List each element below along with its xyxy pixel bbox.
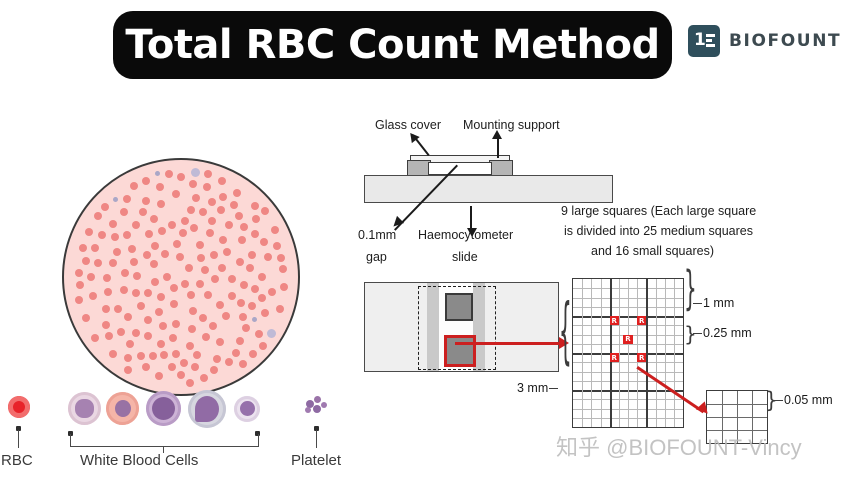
smear-rbc [177,371,185,379]
platelet-granule-4 [321,402,327,408]
smear-rbc [199,314,207,322]
brand-mark-digit: 1 [694,32,706,49]
smear-rbc [218,264,226,272]
rbc-counting-square-5[interactable]: R [637,353,646,362]
smear-rbc [180,359,188,367]
rbc-counting-square-3[interactable]: R [623,335,632,344]
smear-rbc [200,374,208,382]
smear-rbc [128,245,136,253]
smear-rbc [251,230,259,238]
smear-rbc [259,342,267,350]
smear-rbc [204,291,212,299]
grid-line-vertical [591,279,592,427]
grid-line-vertical [628,279,629,427]
smear-rbc [121,269,129,277]
smear-rbc [157,293,165,301]
legend-label-rbc: RBC [1,452,33,469]
blood-smear-illustration [62,158,300,396]
dim-dash-3mm [549,388,558,389]
smear-rbc [139,208,147,216]
smear-rbc [260,238,268,246]
smear-rbc [210,366,218,374]
smear-rbc [150,260,158,268]
smear-rbc [252,215,260,223]
smear-rbc [232,349,240,357]
smear-rbc [144,332,152,340]
smear-rbc [191,363,199,371]
rbc-counting-square-4[interactable]: R [610,353,619,362]
dim-label-3mm: 3 mm [517,381,548,395]
smear-rbc [114,305,122,313]
smear-rbc [155,372,163,380]
smear-rbc [89,292,97,300]
smear-rbc [109,220,117,228]
smear-rbc [94,212,102,220]
counting-chamber-gap [428,162,492,175]
smear-rbc [204,170,212,178]
grid-line-vertical [674,279,675,427]
haemocytometer-slide-side-view [364,175,613,203]
dim-dash-025mm [693,333,702,334]
smear-rbc [219,193,227,201]
rbc-counting-square-2[interactable]: R [637,316,646,325]
smear-rbc [75,296,83,304]
smear-rbc [233,189,241,197]
brand-name: BIOFOUNT [729,31,841,51]
page-title-pill: Total RBC Count Method [113,11,672,79]
smear-rbc [123,195,131,203]
smear-rbc [273,242,281,250]
smear-rbc [76,281,84,289]
smear-rbc [113,248,121,256]
smear-rbc [156,183,164,191]
smear-rbc [213,355,221,363]
smear-rbc [142,363,150,371]
smear-rbc [149,352,157,360]
smear-rbc [251,285,259,293]
smear-rbc [130,258,138,266]
smear-rbc [170,300,178,308]
smear-rbc [120,286,128,294]
platelet-tick-line [316,430,317,448]
smear-rbc [223,248,231,256]
smear-rbc [237,299,245,307]
smear-rbc [120,208,128,216]
smear-rbc [206,229,214,237]
smear-rbc [132,329,140,337]
smear-rbc [105,332,113,340]
rbc-tick-line [18,430,19,448]
smear-rbc [132,289,140,297]
wbc-bracket [70,434,259,447]
smear-rbc [208,198,216,206]
smear-rbc [144,316,152,324]
smear-rbc [104,288,112,296]
platelet-granule-2 [314,396,321,403]
dim-label-025mm: 0.25 mm [703,326,752,340]
smear-rbc [168,221,176,229]
platelet-granule-3 [313,405,321,413]
smear-rbc [102,321,110,329]
smear-rbc [238,236,246,244]
smear-rbc [143,251,151,259]
smear-rbc [137,302,145,310]
label-mounting-support: Mounting support [463,118,560,133]
screenshot-root: Total RBC Count Method 1 BIOFOUNT RBC [0,0,851,479]
smear-rbc [172,190,180,198]
smear-rbc [197,254,205,262]
watermark: 知乎 @BIOFOUNT-Vincy [556,430,802,462]
smear-rbc [165,170,173,178]
page-header: Total RBC Count Method 1 BIOFOUNT [0,0,851,92]
smear-platelet [155,171,160,176]
biofount-mark-icon: 1 [688,25,720,57]
smear-rbc [236,337,244,345]
haemocytometer-slide-top-view [364,282,559,372]
smear-rbc [280,283,288,291]
monocyte-nucleus [195,396,219,422]
smear-rbc [161,250,169,258]
smear-rbc [228,275,236,283]
note-line-3: and 16 small squares) [591,244,714,259]
label-slide-line2: slide [452,250,478,265]
brand-mark-bar-3 [706,44,715,47]
cell-legend: RBC White Blood Cells Platelet [0,386,355,479]
dim-dash-005mm [774,400,783,401]
smear-rbc [137,352,145,360]
smear-rbc [117,328,125,336]
smear-rbc [190,224,198,232]
grid-line-vertical [619,279,620,427]
smear-rbc [155,308,163,316]
smear-rbc [199,208,207,216]
smear-rbc [209,322,217,330]
smear-rbc [217,206,225,214]
smear-rbc [201,266,209,274]
smear-rbc [179,229,187,237]
smear-rbc [242,324,250,332]
smear-rbc [222,312,230,320]
counting-chamber-lower-highlighted[interactable] [444,335,476,367]
dim-label-1mm: 1 mm [703,296,734,310]
smear-rbc [181,280,189,288]
rbc-counting-square-1[interactable]: R [610,316,619,325]
smear-rbc [85,228,93,236]
smear-rbc [216,338,224,346]
smear-rbc [82,257,90,265]
brace-025mm: } [684,322,697,346]
smear-rbc [225,358,233,366]
smear-rbc [210,251,218,259]
label-gap-line1: 0.1mm [358,228,396,243]
smear-rbc [246,264,254,272]
smear-rbc [173,240,181,248]
grid-line-vertical [601,279,602,427]
smear-rbc [255,330,263,338]
smear-rbc [169,334,177,342]
smear-rbc [151,278,159,286]
smear-rbc [196,241,204,249]
smear-wbc [267,329,276,338]
smear-rbc [91,334,99,342]
smear-rbc [177,173,185,181]
legend-label-platelet: Platelet [291,452,341,469]
page-title: Total RBC Count Method [125,22,659,68]
smear-rbc [188,325,196,333]
platelet-granule-5 [305,407,311,413]
eosinophil-nucleus [115,400,131,417]
smear-rbc [94,259,102,267]
smear-rbc [142,177,150,185]
counting-chamber-upper [445,293,473,321]
smear-rbc [196,280,204,288]
smear-rbc [203,183,211,191]
smear-rbc [157,200,165,208]
smear-rbc [279,265,287,273]
smear-rbc [75,269,83,277]
smear-rbc [219,236,227,244]
legend-rbc-icon [8,396,30,418]
smear-rbc [124,366,132,374]
smear-rbc [251,202,259,210]
smear-wbc [191,168,200,177]
smear-rbc [189,180,197,188]
smear-rbc [211,275,219,283]
smear-rbc [248,251,256,259]
smear-platelet [252,317,257,322]
smear-rbc [91,244,99,252]
smear-rbc [186,342,194,350]
smear-rbc [101,203,109,211]
lymphocyte-nucleus [240,401,255,416]
smear-rbc [258,294,266,302]
smear-rbc [225,221,233,229]
smear-rbc [109,350,117,358]
smear-rbc [192,194,200,202]
smear-rbc [268,288,276,296]
smear-rbc [168,363,176,371]
smear-rbc [111,233,119,241]
dim-dash-1mm [693,303,702,304]
smear-rbc [261,309,269,317]
smear-rbc [109,259,117,267]
smear-rbc [276,305,284,313]
label-glass-cover: Glass cover [375,118,441,133]
smear-rbc [142,197,150,205]
smear-rbc [160,351,168,359]
dim-label-005mm: 0.05 mm [784,393,833,407]
smear-rbc [159,322,167,330]
smear-rbc [240,281,248,289]
smear-rbc [132,221,140,229]
note-line-2: is divided into 25 medium squares [564,224,753,239]
smear-rbc [144,289,152,297]
haemocytometer-diagram: Glass cover Mounting support 0.1mm gap H… [350,100,851,479]
smear-rbc [158,227,166,235]
smear-rbc [163,273,171,281]
smear-rbc [98,231,106,239]
counting-grid[interactable]: RRRRR [572,278,684,428]
smear-rbc [123,231,131,239]
smear-rbc [193,351,201,359]
smear-rbc [248,302,256,310]
label-gap-line2: gap [366,250,387,265]
smear-rbc [170,284,178,292]
smear-rbc [235,212,243,220]
zoom-arrow-chamber-to-grid [455,342,561,345]
smear-rbc [277,254,285,262]
grid-line-vertical [665,279,666,427]
smear-rbc [230,201,238,209]
smear-rbc [202,333,210,341]
smear-rbc [172,350,180,358]
smear-rbc [151,242,159,250]
smear-rbc [271,226,279,234]
smear-rbc [187,206,195,214]
smear-rbc [261,207,269,215]
note-line-1: 9 large squares (Each large square [561,204,756,219]
smear-rbc [130,182,138,190]
smear-rbc [208,217,216,225]
arrow-slide [470,206,472,230]
smear-rbc [239,313,247,321]
smear-rbc [150,215,158,223]
smear-rbc [103,274,111,282]
smear-rbc [126,340,134,348]
basophil-nucleus [152,397,175,420]
label-slide-line1: Haemocytometer [418,228,513,243]
grid-line-vertical [656,279,657,427]
smear-rbc [264,253,272,261]
smear-rbc [216,301,224,309]
smear-rbc [258,273,266,281]
smear-rbc [239,360,247,368]
smear-rbc [172,320,180,328]
brand-mark-bar-2 [706,39,712,42]
smear-rbc [124,313,132,321]
smear-rbc [218,177,226,185]
smear-rbc [145,230,153,238]
arrow-mounting-support-head [492,130,502,139]
smear-rbc [133,272,141,280]
smear-rbc [157,340,165,348]
smear-rbc [189,307,197,315]
smear-rbc [87,273,95,281]
legend-label-wbc: White Blood Cells [80,452,198,469]
grid-line-vertical [582,279,583,427]
brace-1mm: } [684,260,697,315]
smear-rbc [240,223,248,231]
smear-rbc [79,244,87,252]
smear-platelet [113,197,118,202]
smear-field [62,158,300,396]
neutrophil-nucleus [75,399,94,418]
smear-rbc [187,291,195,299]
smear-rbc [181,217,189,225]
smear-rbc [249,350,257,358]
brand-logo: 1 BIOFOUNT [688,25,841,57]
arrow-mounting-support [497,136,499,158]
brand-mark-bar-1 [706,34,715,37]
mounting-support-right [489,160,513,176]
smear-rbc [124,354,132,362]
smear-rbc [185,264,193,272]
smear-rbc [82,314,90,322]
brace-3mm: { [559,287,572,373]
smear-rbc [228,292,236,300]
smear-rbc [176,253,184,261]
smear-rbc [236,258,244,266]
smear-rbc [102,305,110,313]
